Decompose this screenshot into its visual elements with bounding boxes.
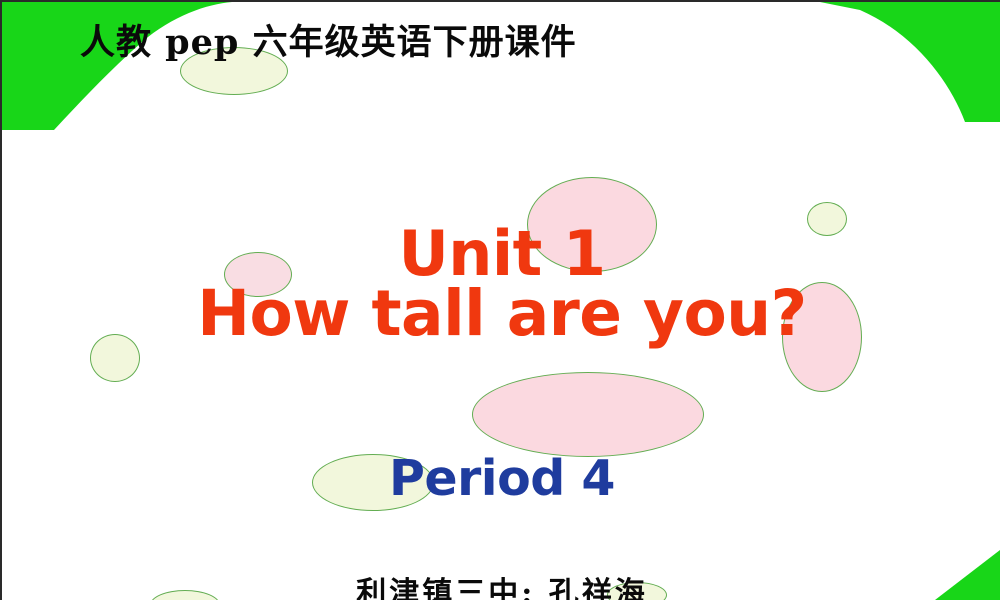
slide-author-credit: 利津镇三中: 孔祥海 xyxy=(2,568,1000,600)
presentation-slide: 人教 pep 六年级英语下册课件 Unit 1 How tall are you… xyxy=(0,0,1000,600)
course-header-text: 人教 pep 六年级英语下册课件 xyxy=(80,14,577,65)
slide-title-block: Unit 1 How tall are you? xyxy=(2,224,1000,344)
slide-subtitle-period: Period 4 xyxy=(2,450,1000,507)
slide-title-unit: Unit 1 xyxy=(2,224,1000,284)
corner-decoration-top-right-icon xyxy=(800,2,1000,122)
slide-title-question: How tall are you? xyxy=(2,284,1000,344)
ellipse-center-bottom-pink xyxy=(472,372,704,457)
